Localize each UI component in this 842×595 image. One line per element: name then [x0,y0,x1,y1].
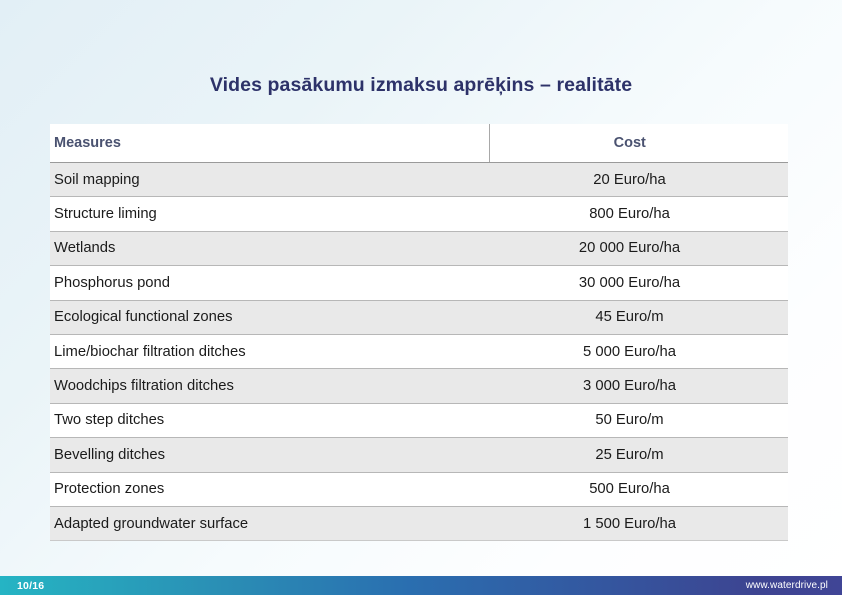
cell-measure: Ecological functional zones [50,300,489,334]
cell-measure: Lime/biochar filtration ditches [50,334,489,368]
cell-measure: Wetlands [50,231,489,265]
cell-measure: Woodchips filtration ditches [50,369,489,403]
cell-measure: Bevelling ditches [50,438,489,472]
cell-measure: Protection zones [50,472,489,506]
cell-cost: 1 500 Euro/ha [489,506,788,540]
cell-cost: 20 Euro/ha [489,163,788,197]
table-row: Woodchips filtration ditches3 000 Euro/h… [50,369,788,403]
cell-measure: Two step ditches [50,403,489,437]
cell-cost: 500 Euro/ha [489,472,788,506]
table-row: Soil mapping20 Euro/ha [50,163,788,197]
table-row: Protection zones500 Euro/ha [50,472,788,506]
table-row: Bevelling ditches25 Euro/m [50,438,788,472]
table-row: Ecological functional zones45 Euro/m [50,300,788,334]
column-header-measures: Measures [50,124,489,163]
table-body: Soil mapping20 Euro/haStructure liming80… [50,163,788,541]
cell-measure: Phosphorus pond [50,266,489,300]
cell-cost: 20 000 Euro/ha [489,231,788,265]
cell-measure: Structure liming [50,197,489,231]
table-row: Phosphorus pond30 000 Euro/ha [50,266,788,300]
column-header-cost: Cost [489,124,788,163]
measures-cost-table: Measures Cost Soil mapping20 Euro/haStru… [50,124,788,541]
cell-cost: 30 000 Euro/ha [489,266,788,300]
footer-website-link[interactable]: www.waterdrive.pl [746,580,842,591]
cell-cost: 800 Euro/ha [489,197,788,231]
presentation-slide: Vides pasākumu izmaksu aprēķins – realit… [0,0,842,595]
table-row: Two step ditches50 Euro/m [50,403,788,437]
slide-number: 10/16 [0,580,44,592]
cell-cost: 50 Euro/m [489,403,788,437]
table-header: Measures Cost [50,124,788,163]
table-header-row: Measures Cost [50,124,788,163]
cost-table-container: Measures Cost Soil mapping20 Euro/haStru… [50,124,788,541]
cell-measure: Adapted groundwater surface [50,506,489,540]
table-row: Wetlands20 000 Euro/ha [50,231,788,265]
cell-cost: 45 Euro/m [489,300,788,334]
cell-cost: 3 000 Euro/ha [489,369,788,403]
table-row: Lime/biochar filtration ditches5 000 Eur… [50,334,788,368]
slide-footer-bar: 10/16 www.waterdrive.pl [0,576,842,595]
cell-cost: 5 000 Euro/ha [489,334,788,368]
table-row: Adapted groundwater surface1 500 Euro/ha [50,506,788,540]
page-title: Vides pasākumu izmaksu aprēķins – realit… [0,74,842,97]
table-row: Structure liming800 Euro/ha [50,197,788,231]
cell-measure: Soil mapping [50,163,489,197]
cell-cost: 25 Euro/m [489,438,788,472]
